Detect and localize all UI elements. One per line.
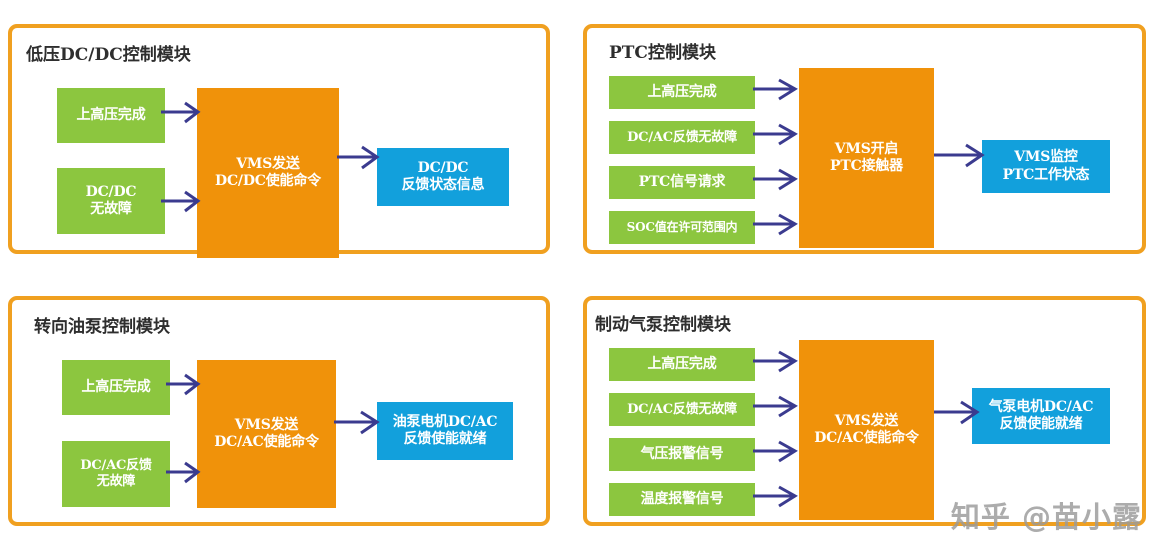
node-line: VMS发送: [235, 417, 298, 434]
panel-ptc-control: PTC控制模块 上高压完成 DC/AC反馈无故障 PTC信号请求 SOC值在许可…: [583, 24, 1146, 254]
node-line: 反馈使能就绪: [404, 431, 487, 448]
feedback-box: 气泵电机DC/AC 反馈使能就绪: [972, 388, 1110, 444]
condition-box: 温度报警信号: [609, 483, 755, 516]
process-box: VMS发送 DC/AC使能命令: [799, 340, 934, 520]
feedback-box: 油泵电机DC/AC 反馈使能就绪: [377, 402, 513, 460]
panel-low-voltage-dcdc: 低压DC/DC控制模块 上高压完成 DC/DC 无故障 VMS发送 DC/DC使…: [8, 24, 550, 254]
condition-box: SOC值在许可范围内: [609, 211, 755, 244]
watermark: 知乎 @苗小露: [951, 494, 1142, 536]
node-line: 气泵电机DC/AC: [989, 399, 1094, 416]
panel-steering-oil-pump: 转向油泵控制模块 上高压完成 DC/AC反馈 无故障 VMS发送 DC/AC使能…: [8, 296, 550, 526]
condition-box: 上高压完成: [609, 348, 755, 381]
condition-box: 上高压完成: [609, 76, 755, 109]
condition-box: DC/AC反馈无故障: [609, 393, 755, 426]
node-line: DC/AC反馈无故障: [627, 130, 737, 146]
process-box: VMS发送 DC/DC使能命令: [197, 88, 339, 258]
panel-title: 转向油泵控制模块: [34, 312, 170, 337]
node-line: DC/DC: [86, 184, 137, 201]
node-line: 上高压完成: [648, 356, 717, 373]
node-line: 上高压完成: [82, 379, 151, 396]
node-line: DC/AC使能命令: [214, 434, 319, 451]
condition-box: DC/AC反馈 无故障: [62, 441, 170, 507]
node-line: 气压报警信号: [641, 446, 724, 463]
condition-box: 上高压完成: [57, 88, 165, 143]
condition-box: DC/DC 无故障: [57, 168, 165, 234]
node-line: 无故障: [97, 474, 135, 490]
node-line: VMS开启: [835, 141, 898, 158]
node-line: DC/AC使能命令: [814, 430, 919, 447]
diagram-canvas: 低压DC/DC控制模块 上高压完成 DC/DC 无故障 VMS发送 DC/DC使…: [0, 0, 1154, 540]
node-line: PTC信号请求: [639, 174, 726, 191]
node-line: 温度报警信号: [641, 491, 724, 508]
feedback-box: VMS监控 PTC工作状态: [982, 140, 1110, 193]
node-line: DC/DC: [418, 160, 469, 177]
node-line: VMS发送: [835, 413, 898, 430]
process-box: VMS发送 DC/AC使能命令: [197, 360, 336, 508]
node-line: 反馈状态信息: [402, 177, 485, 194]
condition-box: PTC信号请求: [609, 166, 755, 199]
node-line: VMS监控: [1014, 149, 1077, 166]
node-line: PTC接触器: [830, 158, 903, 175]
panel-title: 制动气泵控制模块: [595, 310, 731, 335]
panel-title: 低压DC/DC控制模块: [26, 40, 191, 65]
node-line: VMS发送: [236, 156, 299, 173]
condition-box: DC/AC反馈无故障: [609, 121, 755, 154]
feedback-box: DC/DC 反馈状态信息: [377, 148, 509, 206]
node-line: SOC值在许可范围内: [627, 220, 738, 235]
node-line: PTC工作状态: [1003, 167, 1090, 184]
node-line: DC/DC使能命令: [215, 173, 321, 190]
node-line: 上高压完成: [77, 107, 146, 124]
node-line: 上高压完成: [648, 84, 717, 101]
process-box: VMS开启 PTC接触器: [799, 68, 934, 248]
panel-brake-air-pump: 制动气泵控制模块 上高压完成 DC/AC反馈无故障 气压报警信号 温度报警信号 …: [583, 296, 1146, 526]
node-line: 油泵电机DC/AC: [393, 414, 498, 431]
node-line: DC/AC反馈: [80, 458, 151, 474]
node-line: 反馈使能就绪: [1000, 416, 1083, 433]
node-line: 无故障: [90, 201, 131, 218]
condition-box: 气压报警信号: [609, 438, 755, 471]
node-line: DC/AC反馈无故障: [627, 402, 737, 418]
condition-box: 上高压完成: [62, 360, 170, 415]
panel-title: PTC控制模块: [609, 38, 716, 63]
